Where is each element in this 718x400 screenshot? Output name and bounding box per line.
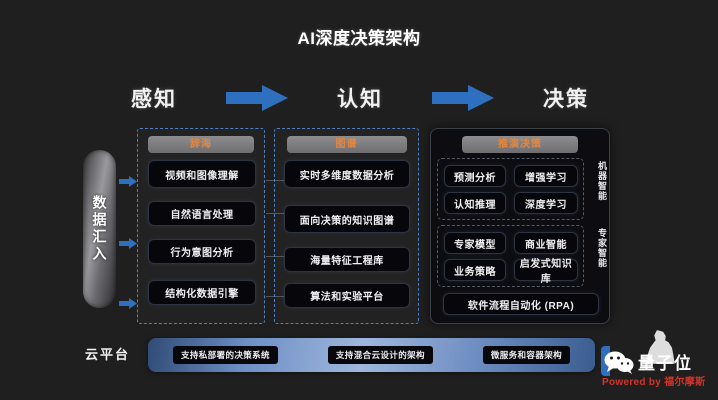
cloud-item-hybrid-cloud[interactable]: 支持混合云设计的架构: [328, 346, 433, 364]
item-heuristic-knowledge-base[interactable]: 启发式知识库: [514, 259, 578, 281]
item-realtime-multidim-analysis[interactable]: 实时多维度数据分析: [284, 160, 410, 188]
cloud-item-microservice-container[interactable]: 微服务和容器架构: [483, 346, 570, 364]
cloud-platform-label: 云平台: [85, 344, 130, 363]
item-reinforcement-learning[interactable]: 增强学习: [514, 165, 578, 187]
item-expert-model[interactable]: 专家模型: [444, 232, 506, 254]
item-cognitive-reasoning[interactable]: 认知推理: [444, 192, 506, 214]
slide-canvas: AI深度决策架构 感知 认知 决策 数据汇入 辞海 视频和图像理解: [0, 0, 718, 400]
cloud-item-private-deployment[interactable]: 支持私部署的决策系统: [173, 346, 278, 364]
stage-arrow-2: [432, 85, 494, 111]
column-knowledge-graph-header: 图谱: [287, 136, 407, 153]
item-natural-language-processing[interactable]: 自然语言处理: [148, 201, 256, 226]
watermark-brand: 量子位: [638, 349, 692, 374]
data-inflow-label: 数据汇入: [90, 195, 110, 263]
column-decision-header: 推演决策: [462, 136, 578, 153]
item-business-strategy[interactable]: 业务策略: [444, 259, 506, 281]
item-rpa[interactable]: 软件流程自动化 (RPA): [443, 293, 599, 315]
item-massive-feature-library[interactable]: 海量特征工程库: [284, 247, 410, 272]
column-decision-panel: 推演决策 预测分析 增强学习 认知推理 深度学习 机器智能 专家模型 商业智能 …: [430, 128, 610, 324]
column-perception-header: 辞海: [148, 136, 254, 153]
item-behavior-intent-analysis[interactable]: 行为意图分析: [148, 239, 256, 264]
item-predictive-analysis[interactable]: 预测分析: [444, 165, 506, 187]
item-algorithm-experiment-platform[interactable]: 算法和实验平台: [284, 283, 410, 308]
label-machine-intelligence: 机器智能: [592, 161, 606, 201]
group-machine-intelligence: 预测分析 增强学习 认知推理 深度学习: [437, 158, 584, 220]
stage-decision: 决策: [512, 83, 620, 113]
inflow-arrow-3: [119, 296, 137, 307]
column-knowledge-graph: 图谱 实时多维度数据分析 面向决策的知识图谱 海量特征工程库 算法和实验平台: [274, 128, 419, 324]
stage-cognition: 认知: [306, 83, 414, 113]
stage-flow: 感知 认知 决策: [100, 80, 620, 116]
stage-perception: 感知: [100, 83, 208, 113]
watermark: 量子位 Powered by 福尔摩斯: [600, 332, 712, 394]
architecture-board: 数据汇入 辞海 视频和图像理解 自然语言处理 行为意图分析 结构化数据引擎 图谱…: [0, 128, 718, 328]
inflow-arrow-2: [119, 236, 137, 247]
stage-arrow-1: [226, 85, 288, 111]
data-inflow-capsule: 数据汇入: [83, 150, 116, 308]
cloud-platform-bar: 支持私部署的决策系统 支持混合云设计的架构 微服务和容器架构: [148, 338, 595, 372]
page-title: AI深度决策架构: [0, 24, 718, 49]
item-decision-knowledge-graph[interactable]: 面向决策的知识图谱: [284, 205, 410, 233]
inflow-arrow-1: [119, 174, 137, 185]
item-video-image-understanding[interactable]: 视频和图像理解: [148, 160, 256, 188]
item-deep-learning[interactable]: 深度学习: [514, 192, 578, 214]
item-business-intelligence[interactable]: 商业智能: [514, 232, 578, 254]
column-perception: 辞海 视频和图像理解 自然语言处理 行为意图分析 结构化数据引擎: [137, 128, 265, 324]
label-expert-intelligence: 专家智能: [592, 228, 606, 268]
watermark-powered-by: Powered by 福尔摩斯: [602, 373, 705, 388]
wechat-icon: [604, 350, 634, 374]
group-expert-intelligence: 专家模型 商业智能 业务策略 启发式知识库: [437, 225, 584, 287]
item-structured-data-engine[interactable]: 结构化数据引擎: [148, 280, 256, 305]
